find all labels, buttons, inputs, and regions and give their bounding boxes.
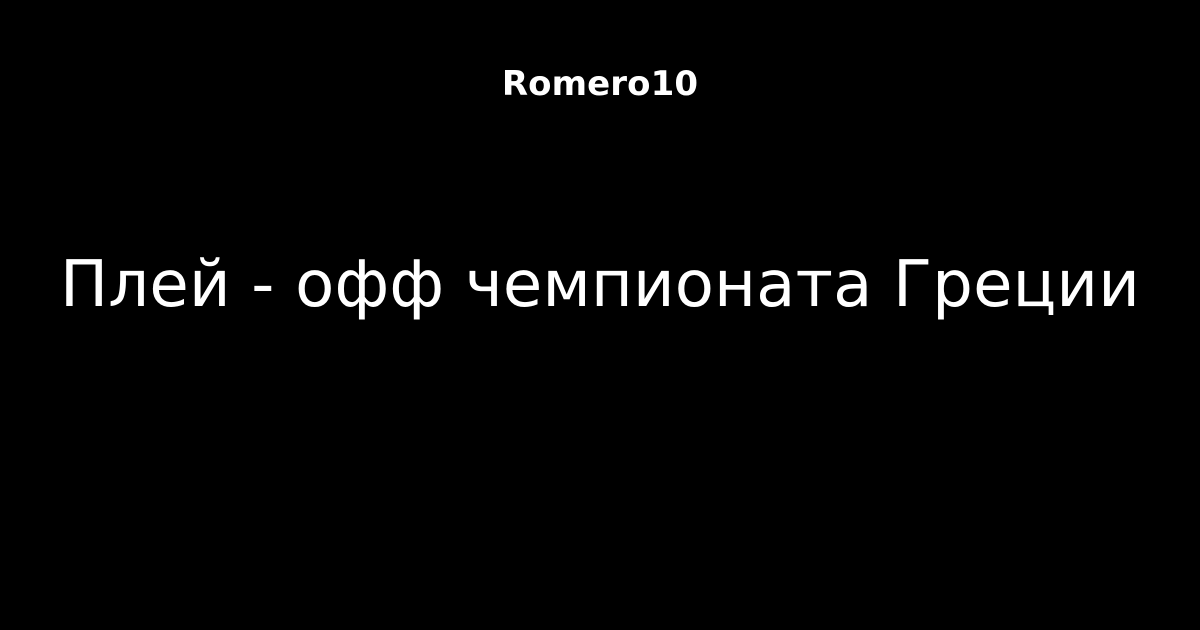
- title-card: Romero10 Плей - офф чемпионата Греции: [0, 0, 1200, 630]
- empty-lower-region: [0, 350, 1200, 630]
- page-title: Плей - офф чемпионата Греции: [60, 252, 1140, 320]
- author-byline: Romero10: [502, 67, 698, 118]
- headline-container: Плей - офф чемпионата Греции: [0, 236, 1200, 336]
- byline-container: Romero10: [0, 0, 1200, 118]
